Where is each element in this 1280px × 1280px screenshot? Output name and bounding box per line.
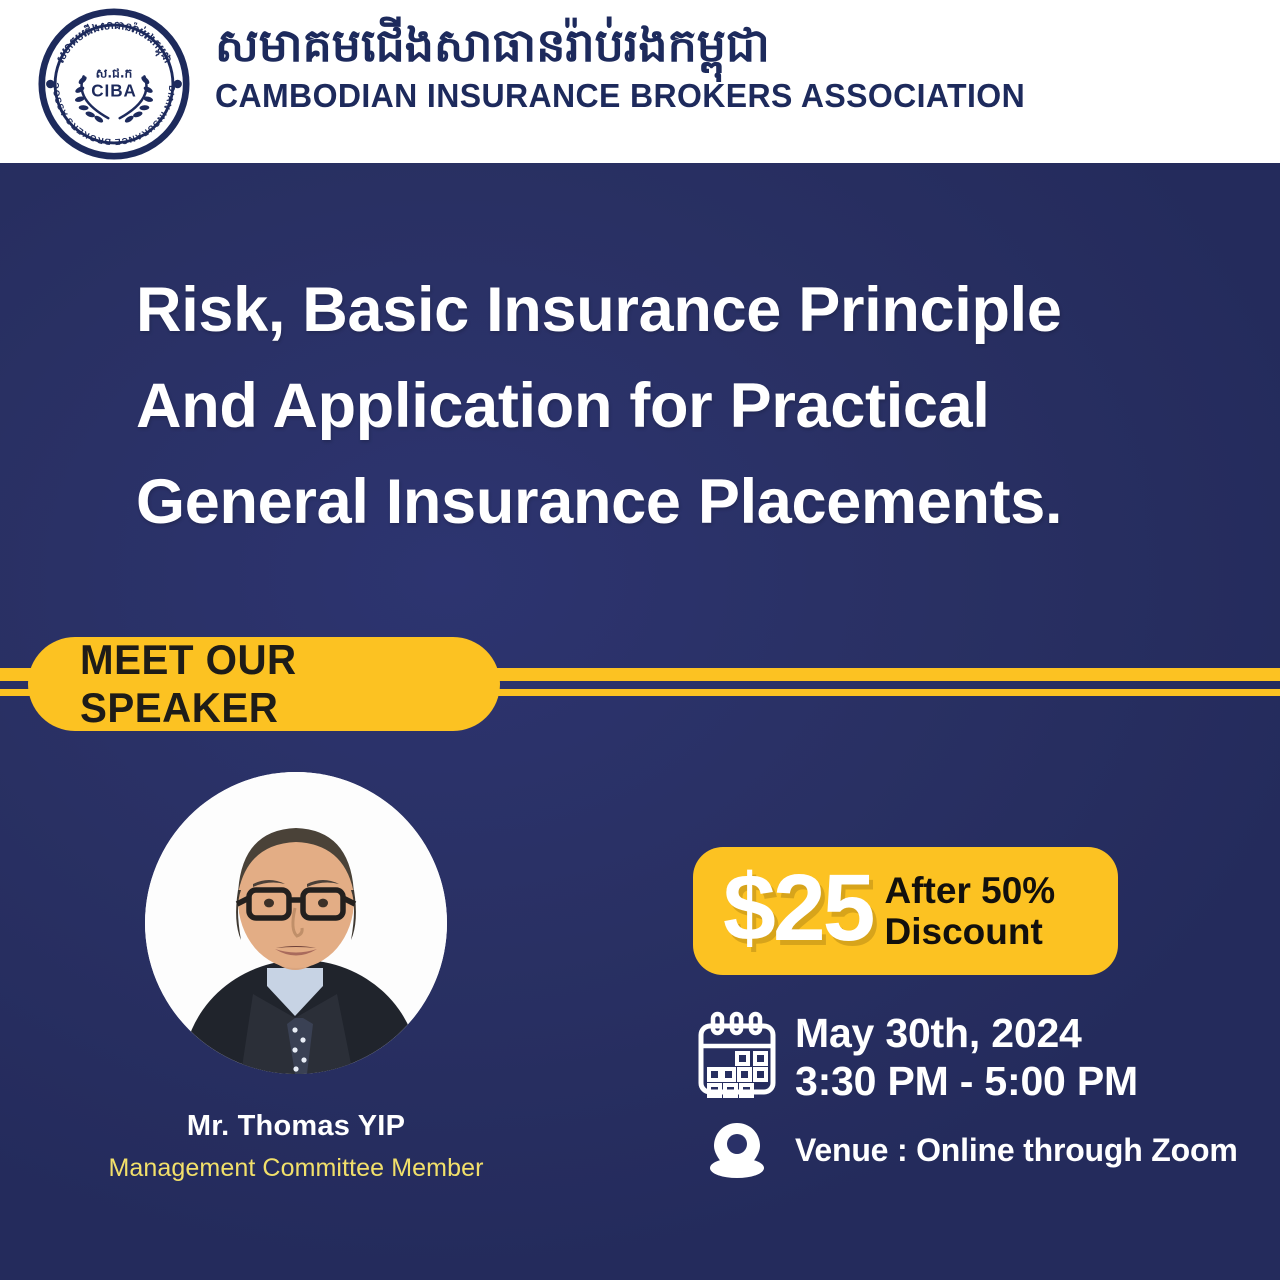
map-pin-icon <box>693 1119 781 1181</box>
price-note-line-2: Discount <box>885 911 1056 952</box>
speaker-avatar <box>145 772 447 1074</box>
speaker-portrait-image <box>145 772 447 1074</box>
ciba-circular-seal-logo-icon: សមាគមជើងសាធានរ៉ាប់រងកម្ពុជា CAMBODIAN IN… <box>38 8 190 160</box>
event-poster: សមាគមជើងសាធានរ៉ាប់រងកម្ពុជា CAMBODIAN IN… <box>0 0 1280 1280</box>
event-date-time: May 30th, 2024 3:30 PM - 5:00 PM <box>795 1010 1138 1105</box>
speaker-name: Mr. Thomas YIP <box>0 1110 592 1143</box>
calendar-icon <box>693 1008 781 1100</box>
event-details: May 30th, 2024 3:30 PM - 5:00 PM Venue :… <box>693 1008 1213 1181</box>
event-date-row: May 30th, 2024 3:30 PM - 5:00 PM <box>693 1008 1213 1105</box>
logo-center-abbr: CIBA <box>91 81 137 100</box>
header-english-title: CAMBODIAN INSURANCE BROKERS ASSOCIATION <box>215 77 1146 115</box>
price-badge: $25 After 50% Discount <box>693 847 1118 975</box>
event-date: May 30th, 2024 <box>795 1010 1138 1058</box>
page-title-line-3: General Insurance Placements. <box>136 454 1196 550</box>
header-titles: សមាគមជើងសាធានរ៉ាប់រងកម្ពុជា CAMBODIAN IN… <box>215 16 1175 115</box>
page-title-line-2: And Application for Practical <box>136 358 1196 454</box>
speaker-role: Management Committee Member <box>0 1154 592 1183</box>
price-amount: $25 <box>723 861 873 956</box>
header-khmer-title: សមាគមជើងសាធានរ៉ាប់រងកម្ពុជា <box>215 16 1175 75</box>
event-venue: Venue : Online through Zoom <box>795 1132 1238 1169</box>
meet-our-speaker-banner: MEET OUR SPEAKER <box>0 637 1280 739</box>
header-band: សមាគមជើងសាធានរ៉ាប់រងកម្ពុជា CAMBODIAN IN… <box>0 0 1280 163</box>
event-venue-row: Venue : Online through Zoom <box>693 1119 1213 1181</box>
page-title: Risk, Basic Insurance Principle And Appl… <box>136 262 1196 550</box>
ciba-logo: សមាគមជើងសាធានរ៉ាប់រងកម្ពុជា CAMBODIAN IN… <box>38 8 190 160</box>
meet-our-speaker-label: MEET OUR SPEAKER <box>80 636 483 732</box>
meet-our-speaker-pill: MEET OUR SPEAKER <box>28 637 500 731</box>
event-time: 3:30 PM - 5:00 PM <box>795 1058 1138 1106</box>
page-title-line-1: Risk, Basic Insurance Principle <box>136 262 1196 358</box>
logo-center-khmer: ស.ជ.ក <box>96 66 133 80</box>
price-discount-note: After 50% Discount <box>885 870 1056 953</box>
price-note-line-1: After 50% <box>885 870 1056 911</box>
